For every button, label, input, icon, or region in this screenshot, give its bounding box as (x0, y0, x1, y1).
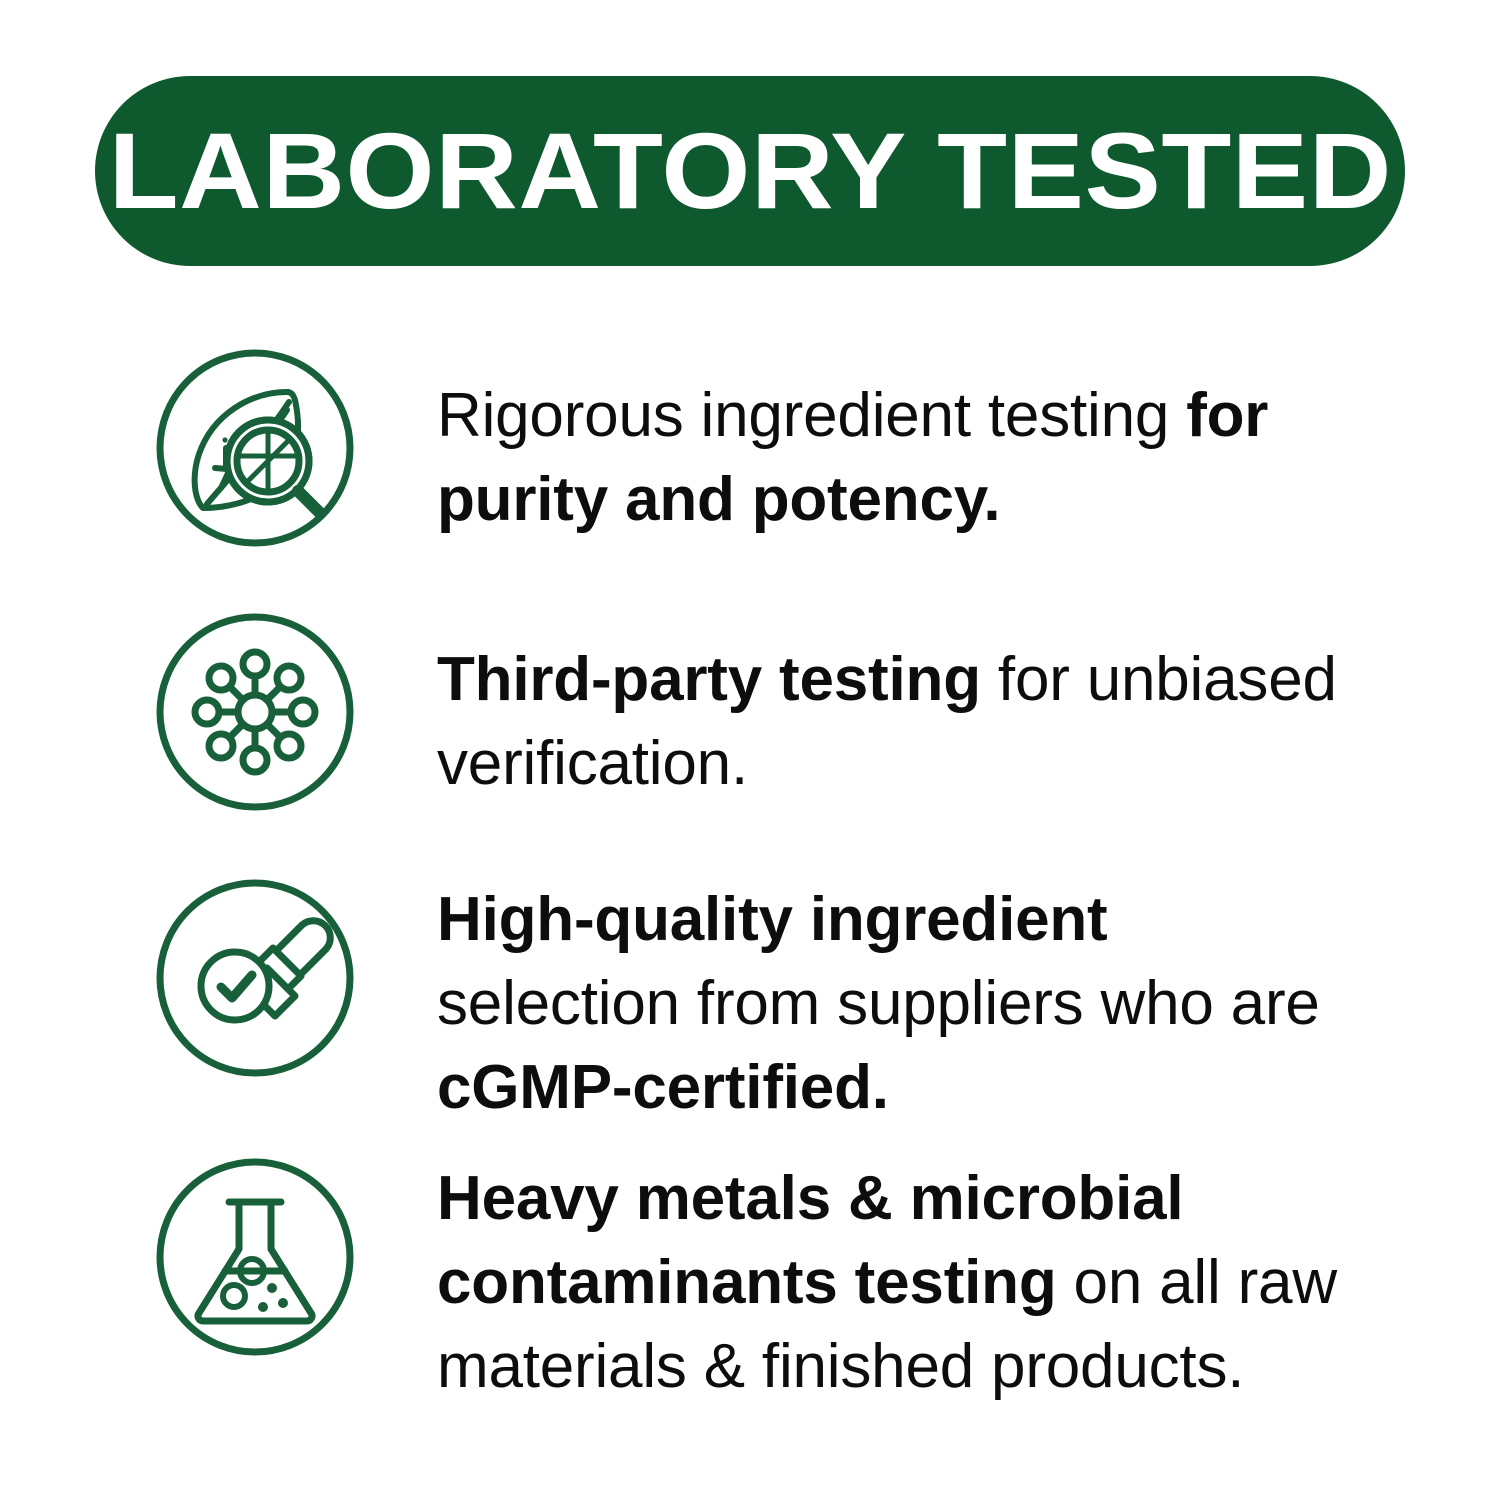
network-hub-icon (155, 612, 355, 812)
feature-text: Heavy metals & microbial contaminants te… (437, 1157, 1347, 1409)
flask-icon (155, 1157, 355, 1357)
feature-text: Third-party testing for unbiased verific… (437, 612, 1347, 806)
stamp-check-icon (155, 878, 355, 1078)
feature-text-segment: selection from suppliers who are (437, 969, 1320, 1038)
feature-row: Rigorous ingredient testing for purity a… (155, 348, 1347, 548)
feature-text-segment: Rigorous ingredient testing (437, 381, 1186, 450)
header-banner: LABORATORY TESTED (95, 76, 1405, 266)
feature-text-segment-emphasis: High-quality ingredient (437, 885, 1108, 954)
feature-text: High-quality ingredient selection from s… (437, 878, 1347, 1130)
feature-row: High-quality ingredient selection from s… (155, 878, 1347, 1130)
page-title: LABORATORY TESTED (108, 117, 1391, 225)
feature-row: Third-party testing for unbiased verific… (155, 612, 1347, 812)
infographic-page: LABORATORY TESTED (0, 0, 1500, 1500)
leaf-magnifier-icon (155, 348, 355, 548)
feature-text-segment-emphasis: cGMP-certified. (437, 1053, 889, 1122)
feature-text-segment-emphasis: Third-party testing (437, 645, 981, 714)
feature-row: Heavy metals & microbial contaminants te… (155, 1157, 1347, 1409)
feature-text: Rigorous ingredient testing for purity a… (437, 348, 1347, 542)
